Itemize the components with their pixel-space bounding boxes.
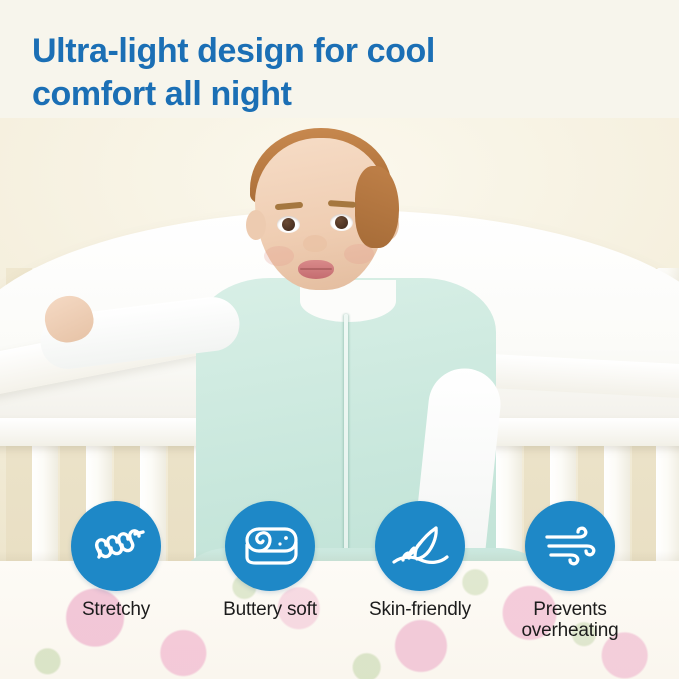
headline-line-2: comfort all night <box>32 73 572 116</box>
buttery-soft-badge[interactable] <box>225 501 315 591</box>
airflow-wind-icon <box>541 523 599 569</box>
feature-label: Prevents overheating <box>495 599 645 642</box>
feature-label: Stretchy <box>41 599 191 620</box>
feature-item-buttery-soft[interactable]: Buttery soft <box>195 501 345 620</box>
page-title: Ultra-light design for cool comfort all … <box>32 30 572 115</box>
product-feature-banner: Ultra-light design for cool comfort all … <box>0 0 679 679</box>
baby-iris-right <box>335 216 348 229</box>
feature-item-prevents-overheating[interactable]: Prevents overheating <box>495 501 645 642</box>
baby-cheek-left <box>264 246 294 266</box>
baby-nose <box>303 235 327 252</box>
prevents-overheating-badge[interactable] <box>525 501 615 591</box>
spring-coil-icon <box>87 524 145 568</box>
headline-line-1: Ultra-light design for cool <box>32 30 572 73</box>
feature-item-stretchy[interactable]: Stretchy <box>41 501 191 620</box>
feature-list: Stretchy Buttery soft <box>0 498 679 679</box>
baby-mouth-line <box>300 268 332 270</box>
baby-ear-left <box>246 210 266 240</box>
stretchy-badge[interactable] <box>71 501 161 591</box>
baby-cheek-right <box>344 244 374 264</box>
baby-iris-left <box>282 218 295 231</box>
skin-friendly-badge[interactable] <box>375 501 465 591</box>
feature-label: Buttery soft <box>195 599 345 620</box>
fabric-roll-icon <box>241 523 299 569</box>
feature-label: Skin-friendly <box>345 599 495 620</box>
hand-on-fabric-icon <box>390 523 450 569</box>
baby-hair-side <box>355 166 399 248</box>
feature-item-skin-friendly[interactable]: Skin-friendly <box>345 501 495 620</box>
